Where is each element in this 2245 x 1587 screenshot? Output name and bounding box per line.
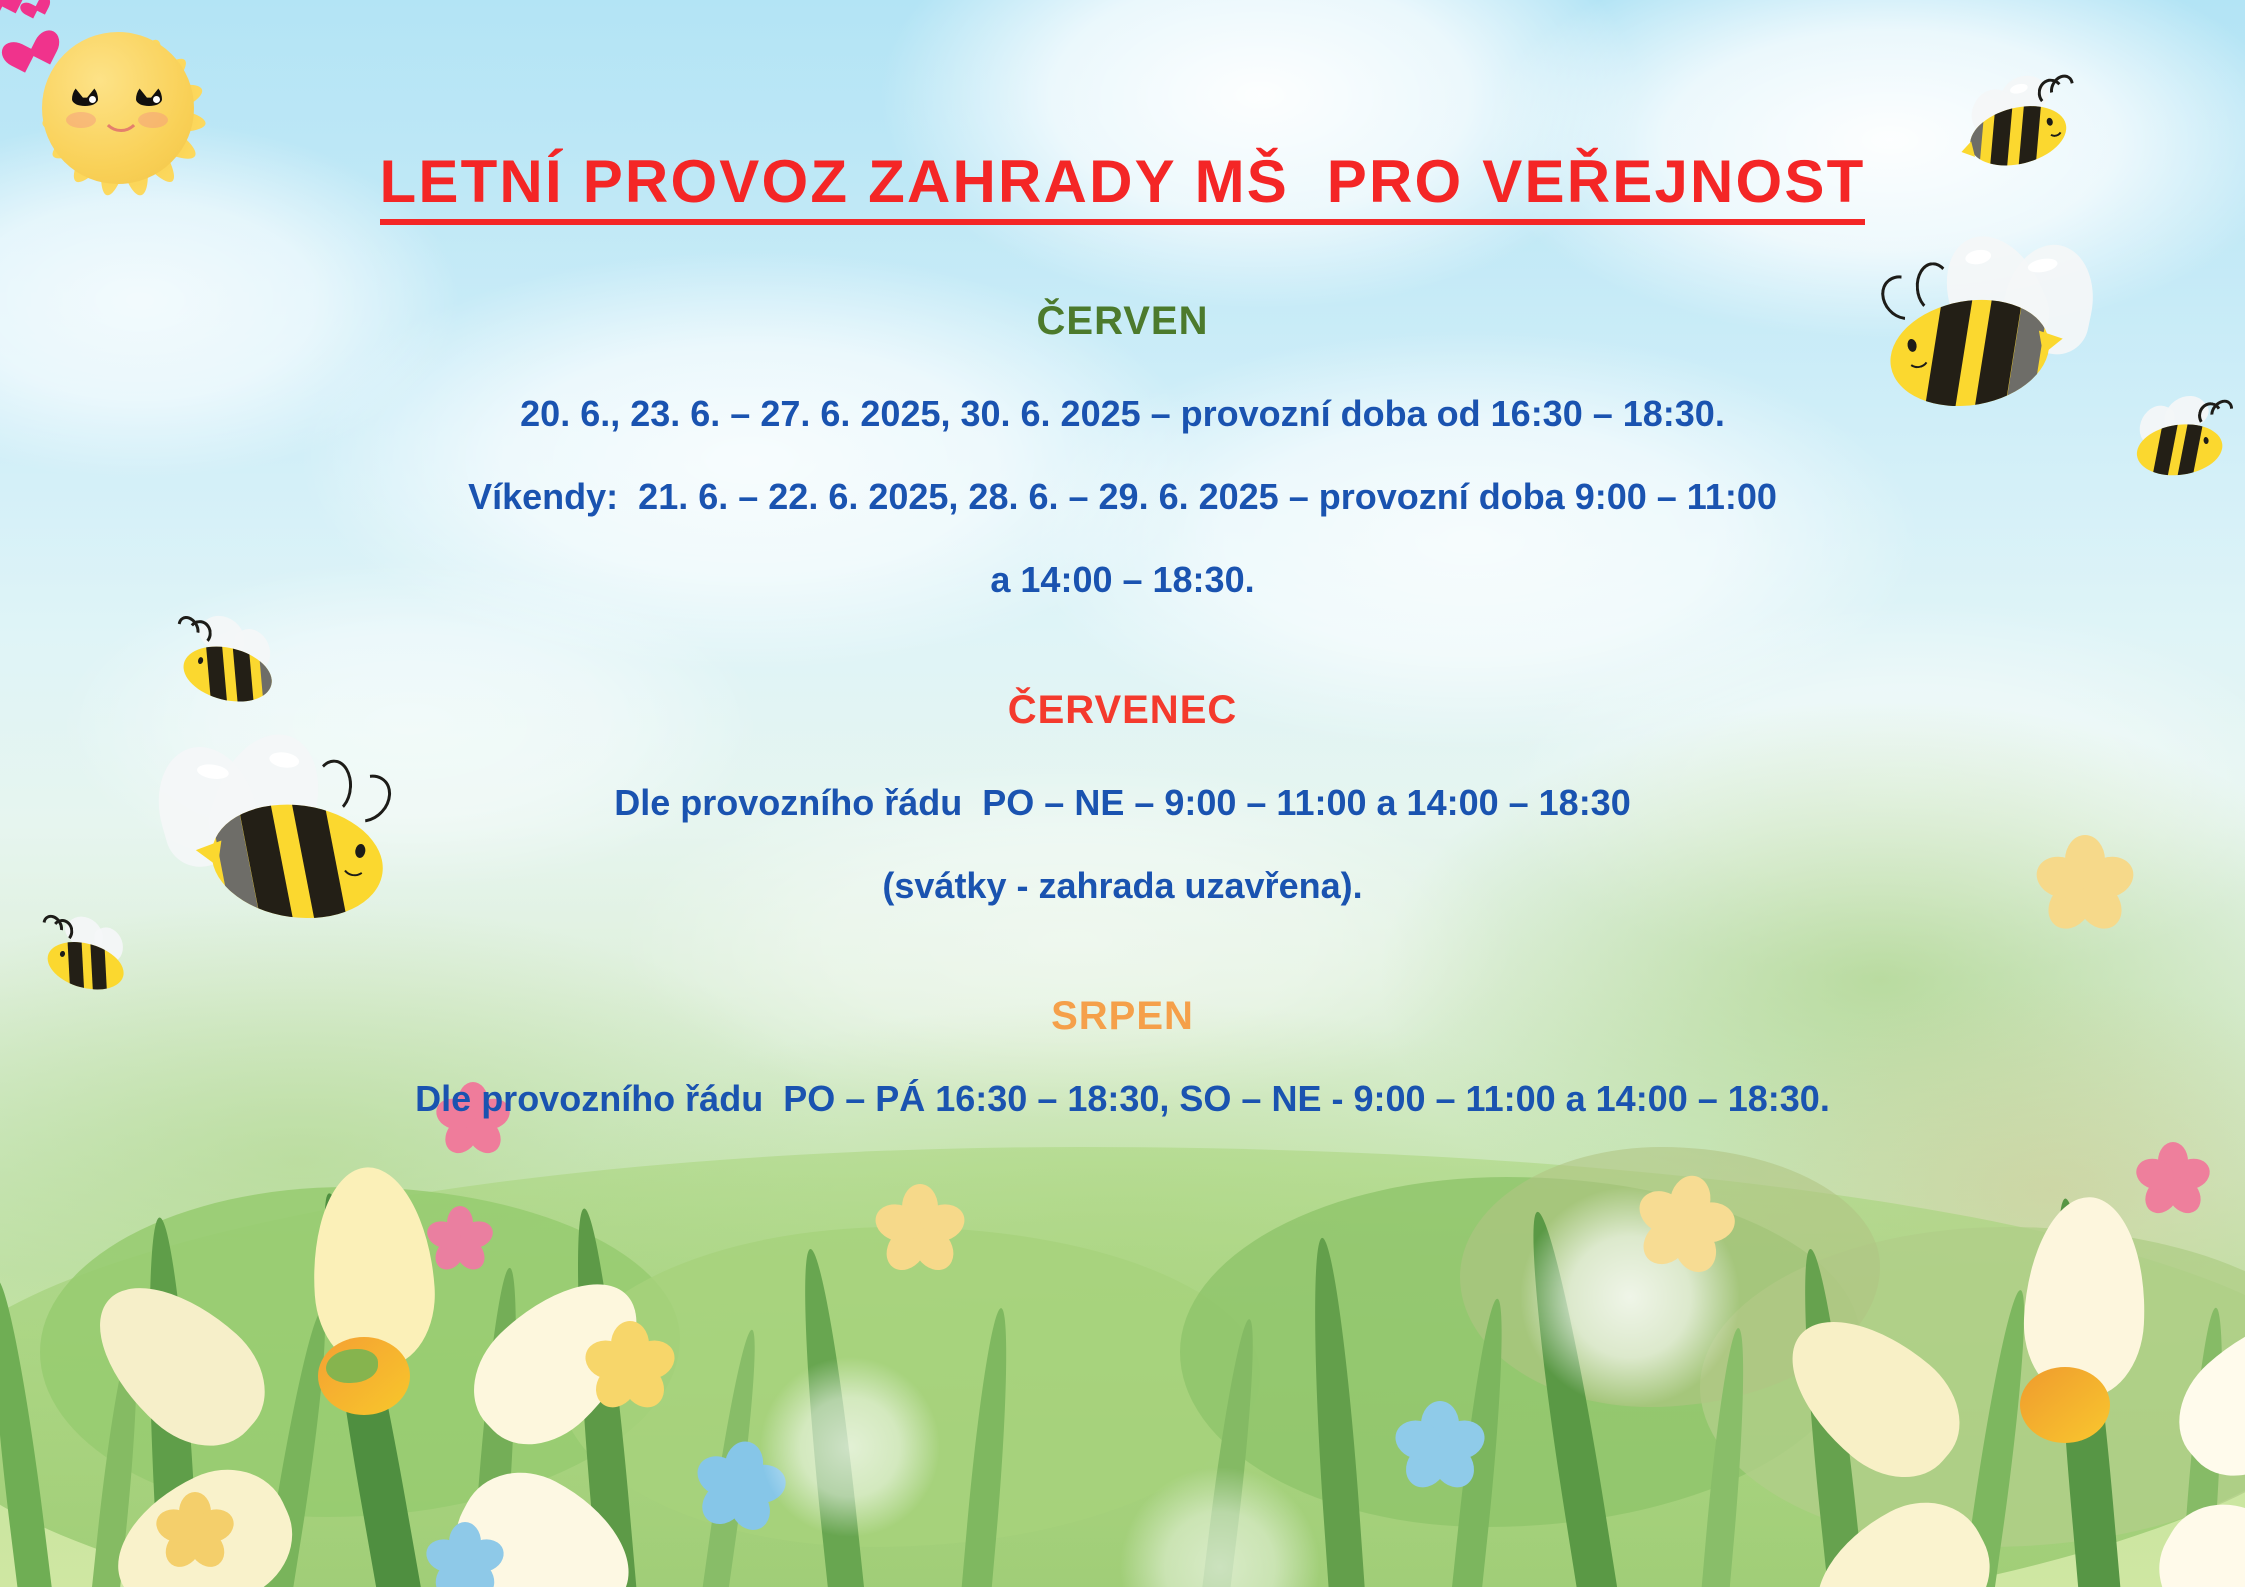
schedule-line: Dle provozního řádu PO – NE – 9:00 – 11:… [0, 780, 2245, 825]
flower-small-pink [2140, 1147, 2206, 1213]
grass-blade [565, 1207, 638, 1587]
title-wrapper: LETNÍ PROVOZ ZAHRADY MŠ PRO VEŘEJNOST [0, 150, 2245, 225]
bush-shape [560, 1227, 1260, 1547]
flower-large [1850, 1207, 2245, 1587]
poster-content: LETNÍ PROVOZ ZAHRADY MŠ PRO VEŘEJNOST ČE… [0, 0, 2245, 1121]
grass-blade [90, 1337, 146, 1587]
flower-center [318, 1337, 410, 1415]
bush-shape [1180, 1177, 1860, 1527]
flower-small-pink [430, 1210, 490, 1270]
flower-petal [2154, 1285, 2245, 1501]
page-title: LETNÍ PROVOZ ZAHRADY MŠ PRO VEŘEJNOST [380, 150, 1866, 225]
flower-center-leaf [326, 1349, 378, 1383]
flower-center [2020, 1367, 2110, 1443]
grass-blade [260, 1308, 337, 1587]
grass-blade [960, 1307, 1016, 1587]
grass-blade [307, 1190, 423, 1587]
flower-small-blue [1400, 1407, 1480, 1487]
grass-blade [2180, 1307, 2231, 1587]
grass-blade [140, 1216, 200, 1587]
flower-petal [2137, 1481, 2245, 1587]
bush-shape [1700, 1227, 2245, 1547]
schedule-line: Víkendy: 21. 6. – 22. 6. 2025, 28. 6. – … [0, 474, 2245, 519]
grass-blade [792, 1247, 865, 1587]
flower-petal [306, 1163, 440, 1371]
schedule-line: 20. 6., 23. 6. – 27. 6. 2025, 30. 6. 202… [0, 391, 2245, 436]
grass-blade [1450, 1297, 1512, 1587]
grass-blade [1960, 1288, 2036, 1587]
flower-petal [94, 1448, 312, 1587]
grass-blade [1023, 1198, 1122, 1587]
flower-petal [69, 1255, 290, 1471]
meadow-base [0, 1147, 2245, 1587]
flower-small-yellow [590, 1327, 670, 1407]
poster: LETNÍ PROVOZ ZAHRADY MŠ PRO VEŘEJNOST ČE… [0, 0, 2245, 1587]
grass-blade [700, 1328, 765, 1587]
grass-blade [1304, 1237, 1366, 1587]
flower-petal [1762, 1289, 1985, 1503]
flower-small-yellow [880, 1190, 960, 1270]
month-heading-cervenec: ČERVENEC [0, 686, 2245, 734]
dandelion-puff [1120, 1467, 1320, 1587]
month-heading-cerven: ČERVEN [0, 297, 2245, 345]
grass-blade [1792, 1247, 1865, 1587]
flower-small-blue [700, 1447, 780, 1527]
grass-blade [0, 1277, 54, 1587]
month-heading-srpen: SRPEN [0, 992, 2245, 1040]
flower-petal [448, 1252, 668, 1470]
schedule-line: a 14:00 – 18:30. [0, 557, 2245, 602]
flower-small-yellow [160, 1497, 230, 1567]
schedule-line: Dle provozního řádu PO – PÁ 16:30 – 18:3… [0, 1076, 2245, 1121]
flower-small-yellow [1640, 1180, 1730, 1270]
grass-blade [1700, 1327, 1752, 1587]
grass-blade [1518, 1209, 1620, 1587]
grass-blade [1200, 1317, 1263, 1587]
flower-petal [434, 1450, 654, 1587]
grass-blade [2044, 1197, 2122, 1587]
grass-blade [470, 1267, 526, 1587]
schedule-line: (svátky - zahrada uzavřena). [0, 863, 2245, 908]
flower-small-blue [430, 1527, 500, 1587]
flower-petal [1792, 1480, 2012, 1587]
dandelion-puff [760, 1357, 940, 1537]
flower-petal [2020, 1194, 2150, 1400]
bush-shape [40, 1187, 680, 1517]
